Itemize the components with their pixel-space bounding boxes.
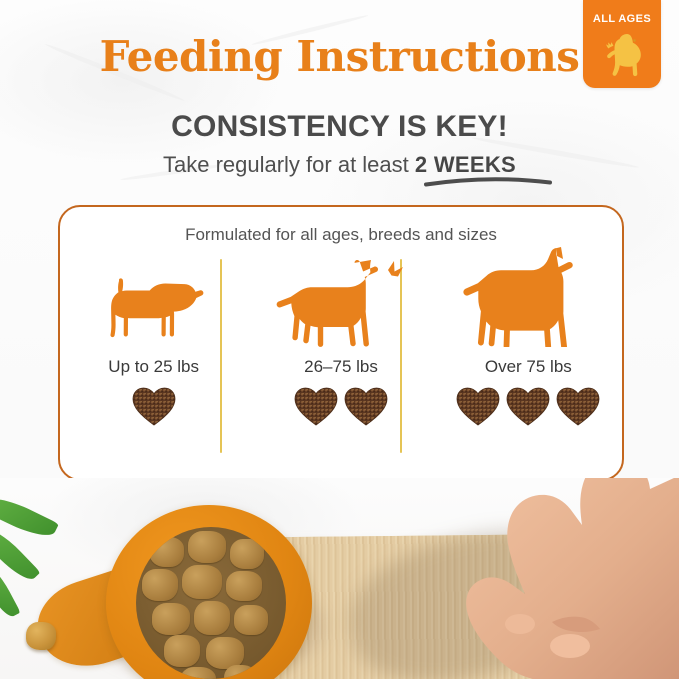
sitting-dog-icon	[591, 30, 653, 82]
bowl-interior	[136, 527, 286, 679]
size-label-small: Up to 25 lbs	[108, 357, 199, 377]
underline-swoosh	[424, 176, 552, 187]
all-ages-badge-label: ALL AGES	[583, 13, 661, 25]
size-column-large: Over 75 lbs	[435, 255, 622, 469]
size-column-medium: 26–75 lbs	[247, 255, 434, 469]
small-dog-icon	[100, 273, 208, 347]
all-ages-badge: ALL AGES	[583, 0, 661, 88]
treat-icon	[555, 385, 601, 427]
medium-dog-icon	[276, 257, 406, 347]
large-dog-slot	[461, 255, 596, 347]
feeding-chart-card: Formulated for all ages, breeds and size…	[58, 205, 624, 481]
size-label-medium: 26–75 lbs	[304, 357, 378, 377]
treat-icon	[131, 385, 177, 427]
treat-icon	[293, 385, 339, 427]
card-heading: Formulated for all ages, breeds and size…	[60, 225, 622, 245]
treat-icon	[343, 385, 389, 427]
tagline-prefix: Take regularly for at least	[163, 152, 415, 177]
product-photo	[0, 478, 679, 679]
small-dog-slot	[100, 255, 208, 347]
subtitle: CONSISTENCY IS KEY!	[0, 110, 679, 144]
tagline: Take regularly for at least 2 WEEKS	[0, 152, 679, 178]
size-columns: Up to 25 lbs	[60, 255, 622, 469]
size-column-small: Up to 25 lbs	[60, 255, 247, 469]
page-title: Feeding Instructions	[0, 32, 679, 81]
treat-count-medium	[293, 385, 389, 427]
treat-icon	[505, 385, 551, 427]
hand-holding-kibble	[400, 478, 679, 679]
tagline-emphasis: 2 WEEKS	[415, 152, 516, 177]
medium-dog-slot	[276, 255, 406, 347]
large-dog-icon	[461, 247, 596, 347]
size-label-large: Over 75 lbs	[485, 357, 572, 377]
treat-count-small	[131, 385, 177, 427]
feeding-instructions-infographic: Feeding Instructions ALL AGES CONSISTENC…	[0, 0, 679, 679]
treat-icon	[455, 385, 501, 427]
treat-count-large	[455, 385, 601, 427]
held-kibble	[26, 622, 56, 650]
